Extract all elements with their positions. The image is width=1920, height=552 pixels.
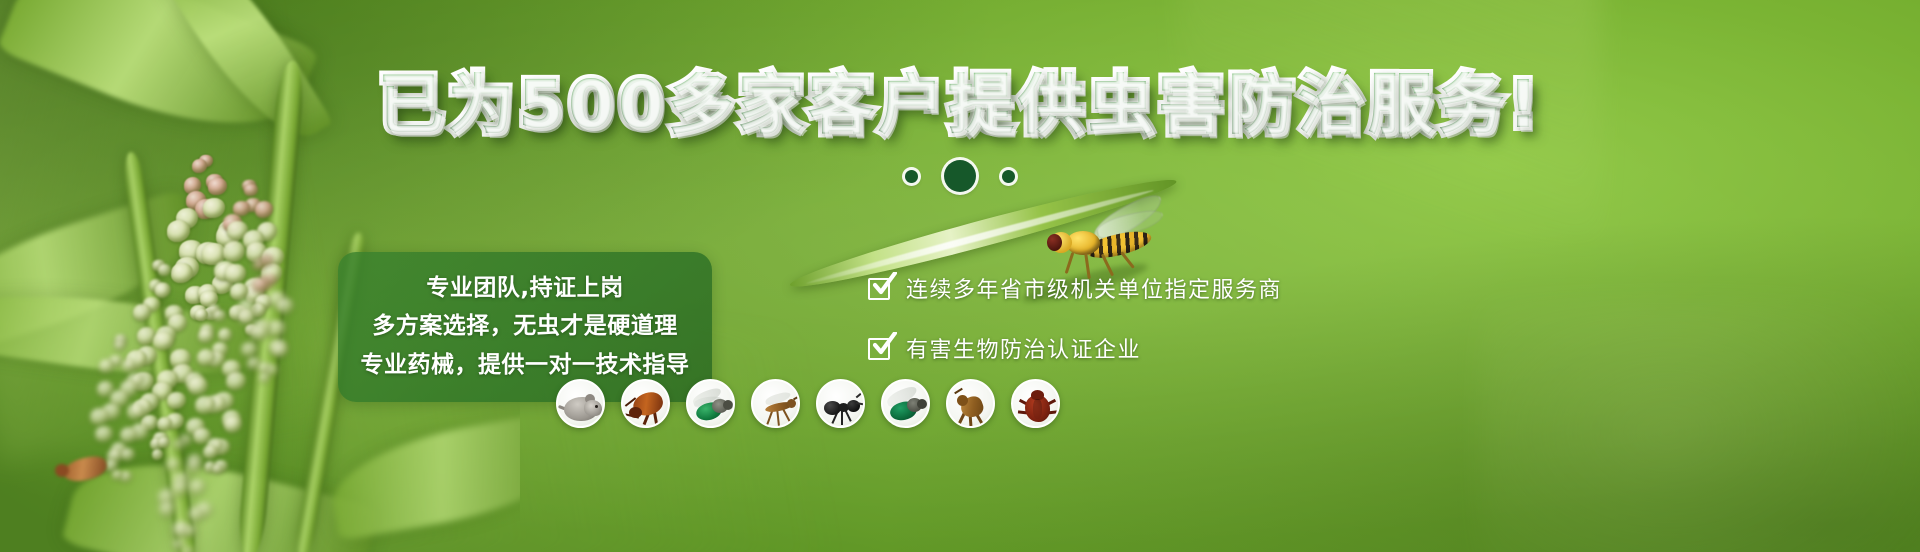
- flower-bud: [158, 264, 171, 276]
- credential-item: 有害生物防治认证企业: [868, 332, 1282, 364]
- flower-bud: [167, 392, 186, 409]
- flower-bud: [120, 427, 137, 443]
- leaf-shape: [324, 409, 520, 541]
- flower-bud: [183, 547, 193, 552]
- housefly-icon[interactable]: [686, 379, 735, 428]
- checkbox-checked-icon: [868, 276, 893, 301]
- flower-bud: [223, 241, 245, 261]
- cockroach-icon[interactable]: [621, 379, 670, 428]
- credential-item: 连续多年省市级机关单位指定服务商: [868, 272, 1282, 304]
- flower-bud: [224, 416, 242, 433]
- blurred-insect-icon: [55, 452, 117, 486]
- flower-bud: [272, 343, 288, 358]
- flower-bud: [203, 445, 218, 458]
- credential-label: 有害生物防治认证企业: [906, 332, 1141, 364]
- flower-bud: [155, 283, 171, 297]
- flower-bud: [203, 198, 225, 218]
- flower-bud: [171, 263, 193, 283]
- flower-bud: [99, 359, 114, 373]
- flower-bud: [276, 298, 294, 315]
- feature-line-2: 多方案选择，无虫才是硬道理: [372, 309, 678, 345]
- mouse-icon[interactable]: [556, 379, 605, 428]
- pest-icon-row: [556, 379, 1060, 428]
- pest-control-hero-banner: 已为500多家客户提供虫害防治服务!已为500多家客户提供虫害防治服务! 专业团…: [0, 0, 1920, 552]
- flower-bud: [213, 310, 225, 321]
- dot-large-center: [944, 160, 976, 192]
- banner-headline: 已为500多家客户提供虫害防治服务!已为500多家客户提供虫害防治服务!: [0, 72, 1920, 138]
- blowfly-icon[interactable]: [881, 379, 930, 428]
- ant-icon[interactable]: [816, 379, 865, 428]
- flower-bud: [241, 342, 258, 358]
- flower-bud: [95, 426, 113, 442]
- flower-bud: [188, 377, 208, 395]
- flower-bud: [121, 448, 135, 461]
- flower-bud: [225, 264, 246, 283]
- flower-bud: [90, 408, 109, 425]
- flower-bud: [258, 362, 270, 373]
- mosquito-icon[interactable]: [751, 379, 800, 428]
- hoverfly-icon: [1038, 212, 1168, 274]
- flower-bud: [152, 449, 164, 460]
- feature-line-1: 专业团队,持证上岗: [426, 271, 623, 307]
- flower-bud: [226, 372, 246, 390]
- flea-icon[interactable]: [946, 379, 995, 428]
- flower-bud: [198, 329, 214, 343]
- credential-list: 连续多年省市级机关单位指定服务商 有害生物防治认证企业: [868, 272, 1282, 364]
- flower-bud: [173, 439, 185, 450]
- dot-small-left: [905, 170, 918, 183]
- credential-label: 连续多年省市级机关单位指定服务商: [906, 272, 1282, 304]
- banner-headline-text: 已为500多家客户提供虫害防治服务!: [378, 72, 1542, 138]
- bedbug-icon[interactable]: [1011, 379, 1060, 428]
- flower-bud: [218, 328, 233, 341]
- dot-small-right: [1002, 170, 1015, 183]
- decorative-dot-group: [0, 160, 1920, 192]
- checkbox-checked-icon: [868, 336, 893, 361]
